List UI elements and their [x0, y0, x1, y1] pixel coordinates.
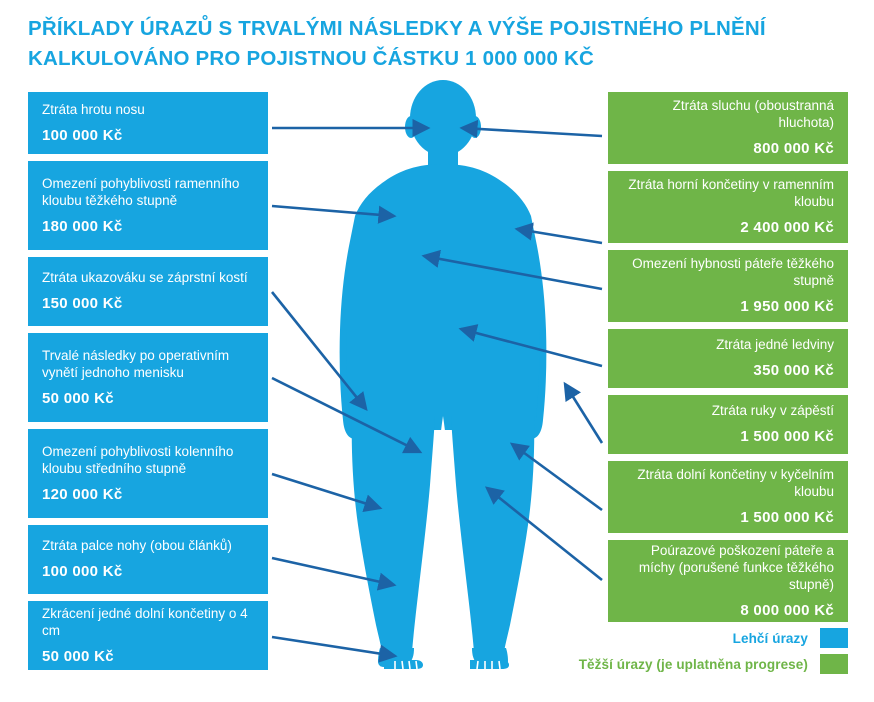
right-ear-shape — [469, 116, 481, 138]
toe-lines — [395, 661, 500, 669]
arrow-right-1 — [462, 128, 602, 136]
legend-label-light: Lehčí úrazy — [733, 631, 808, 646]
callout-left-1-desc: Ztráta hrotu nosu — [42, 101, 254, 118]
callout-right-2-desc: Ztráta horní končetiny v ramenním kloubu — [622, 176, 834, 210]
callout-left-4[interactable]: Trvalé následky po operativním vynětí je… — [28, 333, 268, 422]
callout-left-2-desc: Omezení pohyblivosti ramenního kloubu tě… — [42, 175, 254, 209]
callout-right-4[interactable]: Ztráta jedné ledviny 350 000 Kč — [608, 329, 848, 388]
callout-right-5[interactable]: Ztráta ruky v zápěstí 1 500 000 Kč — [608, 395, 848, 454]
head-shape — [410, 80, 476, 156]
callout-right-7-desc: Poúrazové poškození páteře a míchy (poru… — [622, 542, 834, 593]
callout-left-4-amount: 50 000 Kč — [42, 389, 254, 408]
human-body-silhouette-icon — [340, 80, 547, 669]
arrow-left-6 — [272, 558, 394, 585]
callout-left-3-desc: Ztráta ukazováku se záprstní kostí — [42, 269, 254, 286]
callout-right-1[interactable]: Ztráta sluchu (oboustranná hluchota) 800… — [608, 92, 848, 164]
right-leg-shape — [451, 416, 534, 652]
callout-right-6[interactable]: Ztráta dolní končetiny v kyčelním kloubu… — [608, 461, 848, 533]
infographic-root: Příklady úrazů s trvalými následky a výš… — [0, 0, 874, 702]
callout-left-1-amount: 100 000 Kč — [42, 126, 254, 145]
right-foot-toes — [470, 660, 509, 669]
legend-item-heavy-injuries: Těžší úrazy (je uplatněna progrese) — [579, 654, 848, 674]
callout-right-4-amount: 350 000 Kč — [622, 361, 834, 380]
arrow-left-5 — [272, 474, 380, 508]
callout-left-2[interactable]: Omezení pohyblivosti ramenního kloubu tě… — [28, 161, 268, 250]
torso-and-arms-shape — [340, 164, 547, 456]
arrow-left-3 — [272, 292, 366, 409]
arrow-right-2 — [517, 229, 602, 243]
arrow-right-3 — [424, 256, 602, 289]
callout-left-3-amount: 150 000 Kč — [42, 294, 254, 313]
callout-right-1-amount: 800 000 Kč — [622, 139, 834, 158]
callout-left-6-desc: Ztráta palce nohy (obou článků) — [42, 537, 254, 554]
arrow-right-5 — [565, 384, 602, 443]
callout-right-2[interactable]: Ztráta horní končetiny v ramenním kloubu… — [608, 171, 848, 243]
left-leg-shape — [352, 416, 435, 652]
callout-right-3-desc: Omezení hybnosti páteře těžkého stupně — [622, 255, 834, 289]
legend-label-heavy: Těžší úrazy (je uplatněna progrese) — [579, 657, 808, 672]
left-foot-toes — [384, 660, 423, 669]
right-foot-shape — [472, 648, 508, 667]
title-line-2: Kalkulováno pro pojistnou částku 1 000 0… — [28, 44, 848, 74]
callout-left-3[interactable]: Ztráta ukazováku se záprstní kostí 150 0… — [28, 257, 268, 326]
pelvis-shape — [347, 330, 540, 430]
left-foot-shape — [378, 648, 414, 667]
legend-swatch-heavy — [820, 654, 848, 674]
callout-right-2-amount: 2 400 000 Kč — [622, 218, 834, 237]
callout-left-1[interactable]: Ztráta hrotu nosu 100 000 Kč — [28, 92, 268, 154]
callout-right-4-desc: Ztráta jedné ledviny — [622, 336, 834, 353]
arrow-right-7 — [487, 488, 602, 580]
callout-right-6-amount: 1 500 000 Kč — [622, 508, 834, 527]
callout-left-5-desc: Omezení pohyblivosti kolenního kloubu st… — [42, 443, 254, 477]
callout-right-6-desc: Ztráta dolní končetiny v kyčelním kloubu — [622, 466, 834, 500]
arrow-left-2 — [272, 206, 394, 216]
legend-swatch-light — [820, 628, 848, 648]
callout-left-7-desc: Zkrácení jedné dolní končetiny o 4 cm — [42, 605, 254, 639]
callout-right-5-desc: Ztráta ruky v zápěstí — [622, 402, 834, 419]
callout-right-3-amount: 1 950 000 Kč — [622, 297, 834, 316]
callout-left-7[interactable]: Zkrácení jedné dolní končetiny o 4 cm 50… — [28, 601, 268, 670]
callout-left-5-amount: 120 000 Kč — [42, 485, 254, 504]
callout-right-1-desc: Ztráta sluchu (oboustranná hluchota) — [622, 97, 834, 131]
callout-left-6[interactable]: Ztráta palce nohy (obou článků) 100 000 … — [28, 525, 268, 594]
legend-item-light-injuries: Lehčí úrazy — [733, 628, 848, 648]
callout-left-2-amount: 180 000 Kč — [42, 217, 254, 236]
callout-right-3[interactable]: Omezení hybnosti páteře těžkého stupně 1… — [608, 250, 848, 322]
arrow-right-4 — [461, 329, 602, 366]
crotch-gap-shape — [437, 416, 449, 510]
callout-left-5[interactable]: Omezení pohyblivosti kolenního kloubu st… — [28, 429, 268, 518]
callout-right-5-amount: 1 500 000 Kč — [622, 427, 834, 446]
callout-right-7[interactable]: Poúrazové poškození páteře a míchy (poru… — [608, 540, 848, 622]
left-ear-shape — [405, 116, 417, 138]
arrow-right-6 — [512, 444, 602, 510]
arrow-left-7 — [272, 637, 395, 656]
title-line-1: Příklady úrazů s trvalými následky a výš… — [28, 17, 766, 40]
page-title: Příklady úrazů s trvalými následky a výš… — [28, 14, 848, 74]
neck-shape — [428, 145, 458, 173]
callout-left-6-amount: 100 000 Kč — [42, 562, 254, 581]
arrow-left-4 — [272, 378, 420, 452]
callout-right-7-amount: 8 000 000 Kč — [622, 601, 834, 620]
callout-left-4-desc: Trvalé následky po operativním vynětí je… — [42, 347, 254, 381]
callout-left-7-amount: 50 000 Kč — [42, 647, 254, 666]
